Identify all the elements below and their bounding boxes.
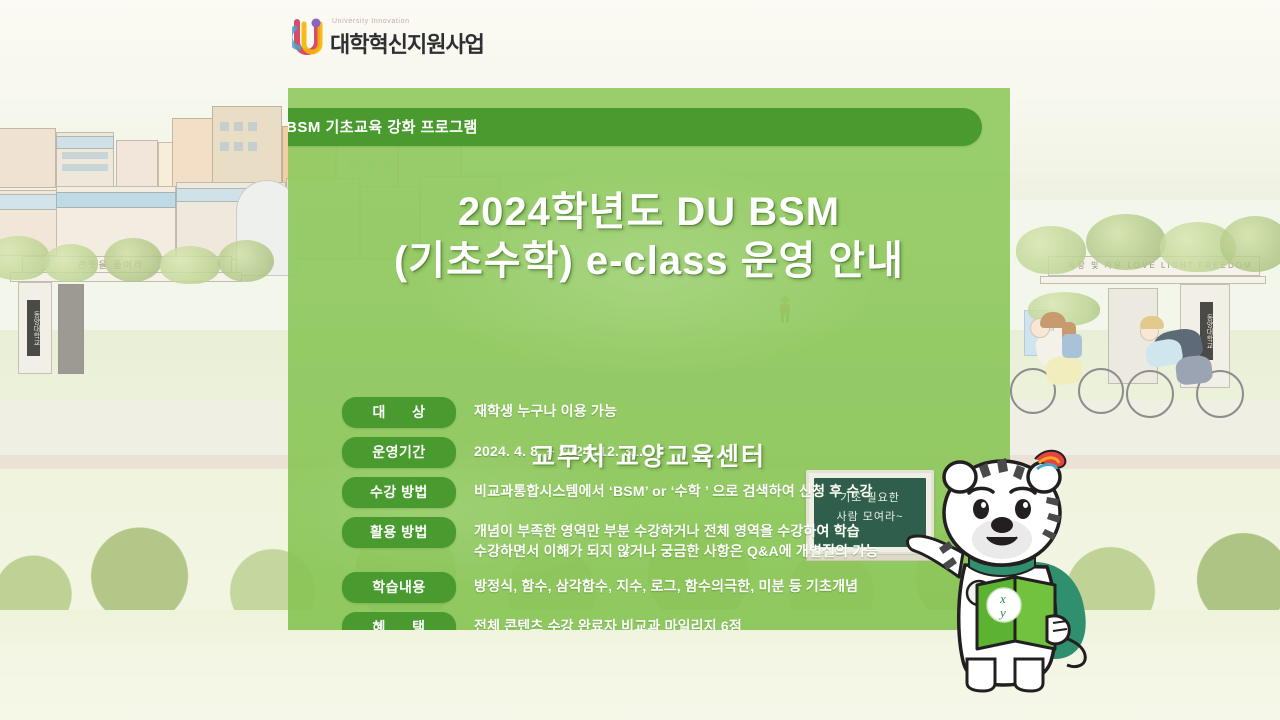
info-row: 활용 방법 개념이 부족한 영역만 부분 수강하거나 전체 영역을 수강하여 학… xyxy=(342,517,1010,562)
info-label-enrollment: 수강 방법 xyxy=(342,477,456,508)
info-value-enrollment: 비교과통합시스템에서 ‘BSM’ or ‘수학 ’ 으로 검색하여 신청 후 수… xyxy=(456,477,1010,501)
info-label-benefit: 혜 택 xyxy=(342,612,456,630)
poster-title-line1: 2024학년도 DU BSM xyxy=(458,190,840,234)
mascot-leg-right xyxy=(1015,659,1043,691)
program-badge: BSM 기초교육 강화 프로그램 xyxy=(288,108,982,146)
program-logo: University Innovation 대학혁신지원사업 xyxy=(292,16,462,58)
logo-u-mark xyxy=(292,18,326,58)
gate-left-plate: 동양대학교 xyxy=(27,300,40,356)
logo-eyebrow: University Innovation xyxy=(332,18,410,25)
info-label-target: 대 상 xyxy=(342,397,456,428)
poster-canvas: 큰뜻을 품어라 동양대학교 사랑 빛 자유 LOVE LIGHT FREEDOM… xyxy=(0,0,1280,720)
info-row: 학습내용 방정식, 함수, 삼각함수, 지수, 로그, 함수의극한, 미분 등 … xyxy=(342,572,1010,603)
info-value-target: 재학생 누구나 이용 가능 xyxy=(456,397,1010,421)
info-row: 혜 택 전체 콘텐츠 수강 완료자 비교과 마일리지 6점 xyxy=(342,612,1010,630)
organization-footer: 교무처 교양교육센터 xyxy=(288,437,1010,473)
info-value-line: 개념이 부족한 영역만 부분 수강하거나 전체 영역을 수강하여 학습 xyxy=(474,523,860,539)
info-label-usage: 활용 방법 xyxy=(342,517,456,548)
info-row: 대 상 재학생 누구나 이용 가능 xyxy=(342,397,1010,428)
mascot-eye-right xyxy=(1015,499,1031,519)
info-value-line: 전체 콘텐츠 수강 완료자 비교과 마일리지 6점 xyxy=(474,618,742,630)
info-value-usage: 개념이 부족한 영역만 부분 수강하거나 전체 영역을 수강하여 학습 수강하면… xyxy=(456,517,1010,562)
info-value-line: 수강하면서 이해가 되지 않거나 궁금한 사항은 Q&A에 개별질의 가능 xyxy=(474,541,1010,561)
info-value-curriculum: 방정식, 함수, 삼각함수, 지수, 로그, 함수의극한, 미분 등 기초개념 xyxy=(456,572,1010,596)
info-value-benefit: 전체 콘텐츠 수강 완료자 비교과 마일리지 6점 xyxy=(456,612,1010,630)
announcement-panel: BSM 기초교육 강화 프로그램 2024학년도 DU BSM (기초수학) e… xyxy=(288,88,1010,630)
info-value-line: 비교과통합시스템에서 ‘BSM’ or ‘수학 ’ 으로 검색하여 신청 후 수… xyxy=(474,483,873,499)
info-label-curriculum: 학습내용 xyxy=(342,572,456,603)
poster-title: 2024학년도 DU BSM (기초수학) e-class 운영 안내 xyxy=(288,188,1010,286)
logo-title: 대학혁신지원사업 xyxy=(330,27,484,59)
info-value-line: 재학생 누구나 이용 가능 xyxy=(474,403,617,419)
info-table: 대 상 재학생 누구나 이용 가능 운영기간 2024. 4. 8. ~ 202… xyxy=(342,397,1010,630)
info-row: 수강 방법 비교과통합시스템에서 ‘BSM’ or ‘수학 ’ 으로 검색하여 … xyxy=(342,477,1010,508)
poster-title-line2: (기초수학) e-class 운영 안내 xyxy=(288,237,1010,286)
mascot-leg-left xyxy=(967,659,995,691)
info-value-line: 방정식, 함수, 삼각함수, 지수, 로그, 함수의극한, 미분 등 기초개념 xyxy=(474,578,858,594)
